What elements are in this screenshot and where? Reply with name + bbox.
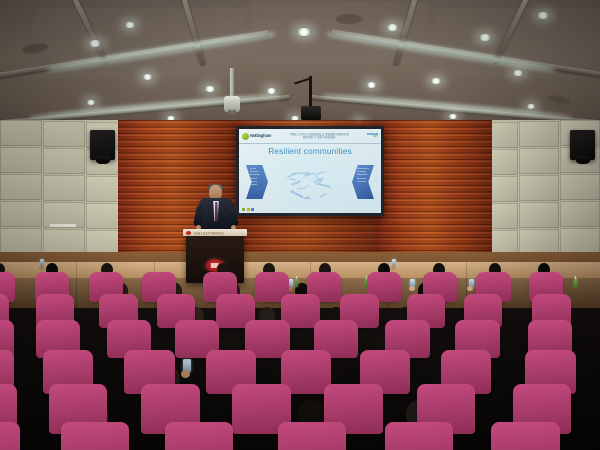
slide-left-chevron-text: SocialPhysicalEconomicNaturalHumanCapita… — [246, 165, 268, 187]
slide-header: Nottingham 宁波诺丁汉大学 可持续发展 与 韧性城市 国际研讨会 城市… — [239, 129, 381, 144]
slide-logo-right: GREEN NET — [367, 133, 378, 139]
chevron-line: Learning — [357, 181, 373, 184]
wood-slat-wall-right — [380, 120, 492, 270]
audience-member-hand — [391, 265, 396, 269]
podium-nameplate: 宁波诺丁汉大学 国际研讨会 — [183, 229, 247, 236]
slide-title: Resilient communities — [239, 146, 381, 156]
cloud-word: risk — [305, 184, 310, 189]
cloud-word: resilience — [319, 193, 327, 198]
audience-member-hand — [181, 370, 190, 378]
auditorium-seat — [283, 352, 329, 392]
slide-word-cloud: communityresilienceriskhazardadaptdisast… — [279, 161, 341, 203]
auditorium-seat — [248, 322, 288, 356]
loudspeaker-left — [90, 130, 115, 160]
auditorium-seat — [0, 424, 18, 450]
auditorium-seat — [283, 296, 317, 326]
loudspeaker-right — [570, 130, 595, 160]
auditorium-seat — [63, 424, 127, 450]
auditorium-seat — [280, 424, 344, 450]
slide-left-chevron: SocialPhysicalEconomicNaturalHumanCapita… — [246, 165, 268, 199]
water-bottle — [574, 278, 577, 287]
auditorium-photograph: Nottingham 宁波诺丁汉大学 可持续发展 与 韧性城市 国际研讨会 城市… — [0, 0, 600, 450]
audience-member-hand — [39, 265, 44, 269]
slide-logo-left-text: Nottingham — [250, 134, 271, 138]
slide-logo-right-sub: NET — [367, 136, 378, 139]
footer-square — [242, 208, 245, 211]
podium-logo-icon — [186, 231, 191, 235]
leaf-icon — [242, 133, 249, 140]
footer-square — [251, 208, 254, 211]
audience-member-hand — [467, 286, 473, 291]
cloud-word: recovery — [297, 187, 305, 190]
audience-member-hand — [409, 286, 415, 291]
ceiling-projector — [300, 76, 322, 124]
slide-right-chevron-text: GovernanceCapacityAdaptationRecoveryLear… — [352, 165, 374, 184]
slide-header-subtitle-line2: 城市韧性 与 社区可持续发展 — [273, 136, 365, 139]
auditorium-seat — [494, 424, 558, 450]
projection-screen: Nottingham 宁波诺丁汉大学 可持续发展 与 韧性城市 国际研讨会 城市… — [236, 126, 384, 216]
footer-square — [247, 208, 250, 211]
slide-logo-left: Nottingham — [242, 133, 271, 140]
water-bottle — [295, 278, 298, 287]
slide-right-chevron: GovernanceCapacityAdaptationRecoveryLear… — [352, 165, 374, 199]
ceiling-air-unit — [228, 68, 236, 110]
chevron-line: Capital — [250, 184, 267, 187]
audience-area — [0, 278, 600, 450]
auditorium-seat — [387, 424, 451, 450]
slide-header-subtitle: 宁波诺丁汉大学 可持续发展 与 韧性城市 国际研讨会 城市韧性 与 社区可持续发… — [271, 133, 367, 139]
cloud-word: network — [291, 171, 301, 175]
podium-nameplate-text: 宁波诺丁汉大学 国际研讨会 — [193, 231, 224, 235]
slide-surface: Nottingham 宁波诺丁汉大学 可持续发展 与 韧性城市 国际研讨会 城市… — [239, 129, 381, 213]
auditorium-seat — [167, 424, 231, 450]
slide-footer-marks — [242, 208, 254, 211]
cloud-word: flood — [303, 172, 311, 178]
